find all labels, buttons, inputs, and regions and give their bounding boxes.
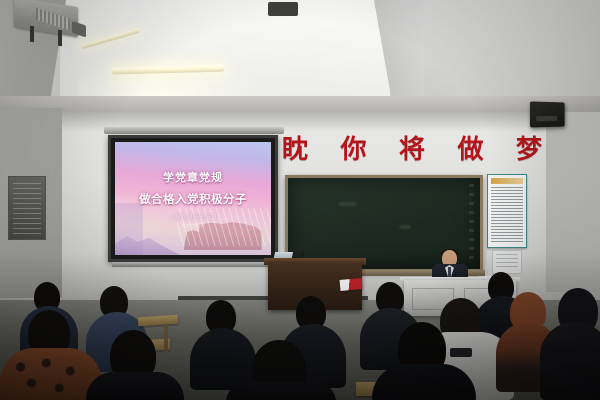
- wall-speaker: [530, 101, 565, 127]
- slide-title-line1: 学党章党规: [115, 169, 271, 185]
- projection-screen: 学党章党规 做合格入党积极分子 入党积极分子培训 党委组织部: [108, 135, 278, 262]
- slide-title-line2: 做合格入党积极分子: [115, 191, 271, 207]
- wall-top-shadow: [0, 110, 600, 132]
- projector-mount-arm-2: [58, 30, 62, 47]
- hoodie-logo-patch: [450, 348, 472, 357]
- slide-subtitle-line2: 党委组织部: [115, 223, 271, 229]
- chair-leg-left-2: [164, 324, 168, 352]
- blackboard-slide-track: [469, 184, 474, 263]
- projected-slide: 学党章党规 做合格入党积极分子 入党积极分子培训 党委组织部: [115, 142, 271, 255]
- slogan-char-2: 你: [340, 137, 366, 163]
- projector-vent: [36, 8, 70, 31]
- wall-notice-board: [8, 176, 46, 240]
- wall-poster-small: [492, 250, 522, 274]
- student-front-center-body: [372, 364, 476, 400]
- student-jacket-star-pattern: [4, 352, 96, 400]
- ceiling-speaker: [268, 2, 298, 16]
- chalk-smudge-2: [399, 225, 411, 229]
- classroom-photo: 眈 你 将 做 梦 学党章党规 做合格入党积极分子 入党积极分子培训 党委组织部: [0, 0, 600, 400]
- slogan-char-5: 梦: [516, 137, 542, 163]
- slogan-char-1: 眈: [282, 137, 308, 163]
- screen-roller-case: [104, 127, 284, 134]
- slogan-char-3: 将: [399, 137, 425, 163]
- lectern-sign: [340, 278, 363, 291]
- student-front-left-center-body: [86, 372, 184, 400]
- slide-subtitle-line1: 入党积极分子培训: [115, 213, 271, 221]
- speaker-tie: [448, 267, 451, 277]
- slogan-char-4: 做: [457, 137, 483, 163]
- screen-bottom-bar: [112, 262, 274, 267]
- student-far-right-body: [540, 322, 600, 400]
- student-front-aisle-body: [226, 382, 336, 400]
- student-center-left-body: [190, 328, 256, 390]
- projector-mount-arm: [30, 26, 34, 43]
- chalk-smudge: [338, 202, 357, 207]
- poster-text-lines: [491, 187, 523, 243]
- side-wall-right: [546, 112, 600, 292]
- red-wall-characters: 眈 你 将 做 梦: [282, 133, 542, 167]
- notice-text-lines: [13, 183, 41, 234]
- poster-header: [491, 178, 523, 184]
- wall-poster: [487, 174, 527, 248]
